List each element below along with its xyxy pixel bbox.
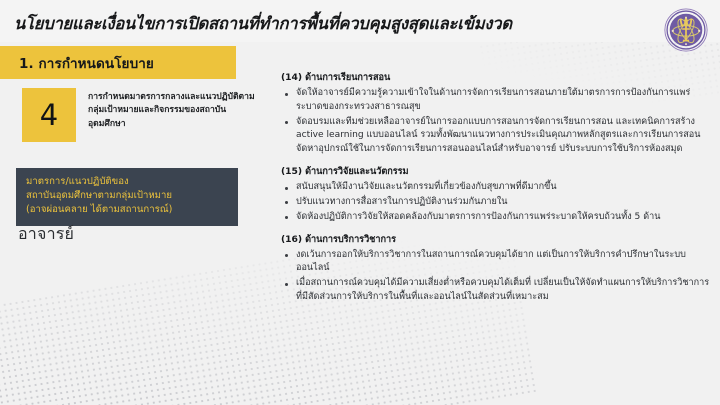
content-section: (16) ด้านการบริการวิชาการ งดเว้นการออกให… — [281, 232, 713, 305]
bullet-item: สนับสนุนให้มีงานวิจัยและนวัตกรรมที่เกี่ย… — [281, 181, 713, 195]
bullet-item: เมื่อสถานการณ์ควบคุมได้มีความเสี่ยงต่ำหร… — [281, 277, 713, 305]
bullet-item: จัดอบรมและทีมช่วยเหลืออาจารย์ในการออกแบบ… — [281, 116, 713, 157]
slide-title: นโยบายและเงื่อนไขการเปิดสถานที่ทำการพื้น… — [14, 11, 512, 37]
topic-number-box: 4 — [22, 88, 76, 142]
bullet-list: งดเว้นการออกให้บริการวิชาการในสถานการณ์ค… — [281, 249, 713, 305]
section-heading: (16) ด้านการบริการวิชาการ — [281, 232, 713, 247]
bullet-list: สนับสนุนให้มีงานวิจัยและนวัตกรรมที่เกี่ย… — [281, 181, 713, 224]
bullet-list: จัดให้อาจารย์มีความรู้ความเข้าใจในด้านกา… — [281, 87, 713, 157]
topic-description: การกำหนดมาตรการกลางและแนวปฏิบัติตามกลุ่ม… — [88, 88, 262, 142]
ministry-emblem-logo — [664, 8, 708, 52]
content-section: (15) ด้านการวิจัยและนวัตกรรม สนับสนุนให้… — [281, 164, 713, 224]
bullet-item: จัดห้องปฏิบัติการวิจัยให้สอดคล้องกับมาตร… — [281, 211, 713, 225]
topic-row: 4 การกำหนดมาตรการกลางและแนวปฏิบัติตามกลุ… — [22, 88, 262, 142]
bullet-item: จัดให้อาจารย์มีความรู้ความเข้าใจในด้านกา… — [281, 87, 713, 115]
target-group-label: อาจารย์ — [18, 222, 74, 247]
presentation-slide: นโยบายและเงื่อนไขการเปิดสถานที่ทำการพื้น… — [0, 0, 720, 405]
content-section: (14) ด้านการเรียนการสอน จัดให้อาจารย์มีค… — [281, 70, 713, 157]
measure-callout-text: มาตรการ/แนวปฏิบัติของ สถาบันอุดมศึกษาตาม… — [26, 175, 228, 218]
section-heading: (15) ด้านการวิจัยและนวัตกรรม — [281, 164, 713, 179]
section-banner-label: 1. การกำหนดนโยบาย — [0, 52, 154, 74]
bullet-item: ปรับแนวทางการสื่อสารในการปฏิบัติงานร่วมก… — [281, 196, 713, 210]
section-heading: (14) ด้านการเรียนการสอน — [281, 70, 713, 85]
content-column: (14) ด้านการเรียนการสอน จัดให้อาจารย์มีค… — [281, 70, 713, 312]
bullet-item: งดเว้นการออกให้บริการวิชาการในสถานการณ์ค… — [281, 249, 713, 277]
section-banner: 1. การกำหนดนโยบาย — [0, 46, 236, 79]
measure-callout-box: มาตรการ/แนวปฏิบัติของ สถาบันอุดมศึกษาตาม… — [16, 168, 238, 226]
topic-number: 4 — [40, 101, 58, 130]
